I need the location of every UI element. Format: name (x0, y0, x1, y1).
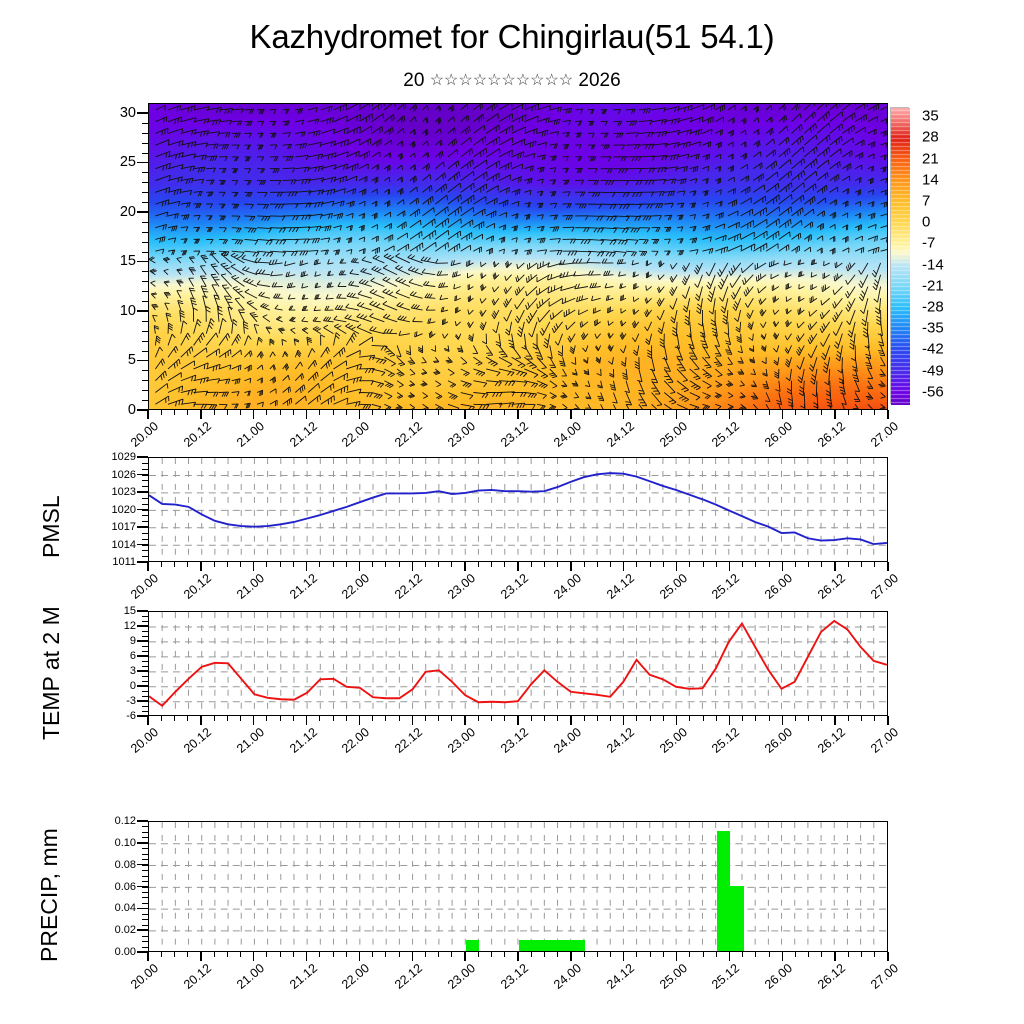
temp-y-axis: -6-303691215 (0, 611, 148, 716)
x-tick-minor (544, 716, 545, 721)
y-axis-label: 0.10 (115, 837, 136, 849)
x-axis-label: 23.12 (485, 961, 531, 1003)
y-axis-label: 0 (128, 402, 136, 418)
precip-bar (559, 940, 572, 951)
x-tick-minor (689, 410, 690, 415)
x-tick-major (359, 410, 361, 419)
y-tick-minor (142, 636, 148, 637)
x-axis-label: 23.00 (432, 571, 478, 613)
x-tick-minor (874, 410, 875, 415)
x-tick-minor (451, 952, 452, 957)
x-tick-minor (293, 716, 294, 721)
x-tick-minor (703, 716, 704, 721)
x-tick-minor (227, 952, 228, 957)
x-tick-minor (504, 716, 505, 721)
x-tick-minor (689, 952, 690, 957)
x-tick-major (676, 410, 678, 419)
x-tick-minor (385, 716, 386, 721)
y-tick-minor (142, 504, 148, 505)
x-tick-minor (755, 952, 756, 957)
x-axis-label: 24.00 (538, 725, 584, 767)
x-tick-minor (280, 952, 281, 957)
x-tick-minor (293, 562, 294, 567)
x-axis-label: 25.12 (697, 571, 743, 613)
x-tick-major (253, 952, 255, 961)
y-tick-minor (142, 892, 148, 893)
precip-y-axis: 0.000.020.040.060.080.100.12 (0, 821, 148, 952)
colorbar-tick-label: -35 (922, 320, 944, 337)
x-tick-minor (491, 562, 492, 567)
y-tick-minor (142, 903, 148, 904)
x-tick-minor (531, 562, 532, 567)
x-tick-minor (438, 410, 439, 415)
x-tick-minor (227, 562, 228, 567)
x-tick-minor (557, 716, 558, 721)
x-tick-minor (742, 716, 743, 721)
x-tick-minor (531, 410, 532, 415)
x-tick-major (464, 562, 466, 571)
x-axis-label: 27.00 (855, 961, 901, 1003)
pmsl-plot[interactable] (148, 457, 888, 562)
x-tick-major (782, 952, 784, 961)
y-axis-label: 1020 (112, 504, 136, 516)
x-axis-label: 20.12 (168, 419, 214, 461)
pmsl-polyline (149, 473, 887, 544)
x-tick-major (359, 562, 361, 571)
colorbar-tick-label: 28 (922, 129, 939, 146)
x-tick-minor (703, 952, 704, 957)
subtitle-month-glyphs: ☆☆☆☆☆☆☆☆☆☆ (430, 72, 573, 89)
colorbar-stripes (891, 108, 908, 374)
colorbar-tick-label: 0 (922, 214, 930, 231)
x-tick-major (412, 716, 414, 725)
x-tick-major (147, 952, 149, 961)
x-tick-minor (174, 562, 175, 567)
x-tick-minor (531, 716, 532, 721)
colorbar-tick-label: 14 (922, 171, 939, 188)
x-tick-minor (161, 952, 162, 957)
x-axis-label: 27.00 (855, 571, 901, 613)
y-tick-minor (142, 656, 148, 657)
x-tick-minor (372, 410, 373, 415)
y-tick-minor (142, 936, 148, 937)
x-tick-minor (491, 716, 492, 721)
y-tick-minor (142, 400, 148, 401)
temperature-colorbar[interactable] (890, 107, 909, 404)
x-tick-minor (240, 716, 241, 721)
x-tick-minor (266, 716, 267, 721)
y-tick-minor (142, 351, 148, 352)
x-tick-minor (214, 716, 215, 721)
x-tick-minor (769, 952, 770, 957)
x-tick-major (570, 952, 572, 961)
x-axis-label: 24.00 (538, 419, 584, 461)
y-tick-minor (142, 390, 148, 391)
y-axis-label: 25 (120, 154, 136, 170)
x-tick-major (306, 410, 308, 419)
x-tick-minor (544, 410, 545, 415)
x-tick-minor (425, 410, 426, 415)
x-tick-minor (478, 952, 479, 957)
x-tick-major (887, 410, 889, 419)
x-tick-minor (821, 952, 822, 957)
x-axis-label: 22.12 (380, 961, 426, 1003)
x-axis-label: 22.00 (327, 961, 373, 1003)
x-axis-label: 25.12 (697, 725, 743, 767)
x-tick-major (676, 562, 678, 571)
x-tick-major (729, 410, 731, 419)
y-tick-minor (142, 486, 148, 487)
y-tick-minor (142, 919, 148, 920)
y-tick-minor (142, 854, 148, 855)
x-tick-major (570, 562, 572, 571)
y-axis-label: 0 (130, 680, 136, 692)
x-tick-minor (319, 716, 320, 721)
x-axis-label: 26.00 (750, 961, 796, 1003)
x-tick-minor (161, 410, 162, 415)
x-tick-minor (240, 952, 241, 957)
x-tick-minor (346, 410, 347, 415)
x-tick-minor (610, 410, 611, 415)
y-tick-minor (142, 143, 148, 144)
x-tick-minor (266, 410, 267, 415)
y-axis-label: 1023 (112, 486, 136, 498)
y-axis-label: -6 (126, 710, 136, 722)
x-tick-minor (174, 716, 175, 721)
x-axis-label: 21.00 (221, 961, 267, 1003)
x-tick-major (570, 716, 572, 725)
x-tick-minor (874, 952, 875, 957)
y-tick-minor (142, 242, 148, 243)
cross-section-x-labels: 20.0020.1221.0021.1222.0022.1223.0023.12… (148, 419, 888, 459)
y-tick-minor (142, 331, 148, 332)
x-tick-major (200, 952, 202, 961)
x-tick-minor (861, 410, 862, 415)
y-tick-minor (142, 261, 148, 262)
x-tick-minor (372, 952, 373, 957)
x-tick-major (517, 410, 519, 419)
x-tick-minor (689, 716, 690, 721)
x-tick-minor (346, 562, 347, 567)
y-tick-minor (142, 232, 148, 233)
x-tick-minor (584, 952, 585, 957)
x-tick-minor (636, 716, 637, 721)
y-tick-minor (142, 908, 148, 909)
y-tick-minor (142, 821, 148, 822)
y-tick-minor (142, 626, 148, 627)
y-tick-minor (142, 182, 148, 183)
temp-plot[interactable] (148, 611, 888, 716)
x-tick-minor (821, 410, 822, 415)
y-tick-minor (142, 681, 148, 682)
y-tick-minor (142, 311, 148, 312)
x-tick-minor (491, 410, 492, 415)
colorbar-tick-label: -56 (922, 383, 944, 400)
x-tick-major (359, 952, 361, 961)
x-axis-label: 26.00 (750, 725, 796, 767)
x-tick-minor (425, 716, 426, 721)
x-axis-label: 24.00 (538, 571, 584, 613)
x-tick-major (306, 716, 308, 725)
y-tick-minor (142, 515, 148, 516)
x-axis-label: 26.12 (802, 419, 848, 461)
y-tick-minor (142, 521, 148, 522)
y-tick-minor (142, 671, 148, 672)
y-tick-minor (142, 631, 148, 632)
x-tick-minor (557, 952, 558, 957)
x-tick-major (359, 716, 361, 725)
y-tick-minor (142, 341, 148, 342)
x-axis-label: 25.12 (697, 419, 743, 461)
y-tick-minor (142, 321, 148, 322)
x-tick-minor (346, 952, 347, 957)
colorbar-tick-label: 7 (922, 192, 930, 209)
x-tick-minor (425, 562, 426, 567)
x-tick-major (253, 562, 255, 571)
x-tick-major (676, 952, 678, 961)
x-tick-minor (385, 952, 386, 957)
x-axis-label: 25.00 (644, 419, 690, 461)
y-tick-minor (142, 370, 148, 371)
x-tick-minor (478, 716, 479, 721)
x-tick-minor (874, 562, 875, 567)
x-tick-minor (438, 716, 439, 721)
x-tick-minor (795, 562, 796, 567)
x-tick-minor (227, 716, 228, 721)
x-tick-major (306, 952, 308, 961)
x-tick-minor (584, 410, 585, 415)
cross-section-x-ticks (148, 410, 888, 419)
x-tick-minor (663, 562, 664, 567)
colorbar-tick-label: -28 (922, 299, 944, 316)
x-tick-major (729, 952, 731, 961)
x-tick-minor (610, 716, 611, 721)
page-subtitle: 20 ☆☆☆☆☆☆☆☆☆☆ 2026 (0, 70, 1024, 92)
y-axis-label: 9 (130, 635, 136, 647)
y-tick-minor (142, 475, 148, 476)
y-tick-minor (142, 941, 148, 942)
precip-bar (466, 940, 479, 951)
y-tick-minor (142, 480, 148, 481)
x-tick-minor (319, 410, 320, 415)
y-tick-minor (142, 510, 148, 511)
x-tick-major (623, 952, 625, 961)
y-tick-minor (142, 914, 148, 915)
y-tick-minor (142, 881, 148, 882)
x-tick-minor (861, 952, 862, 957)
x-axis-label: 21.12 (274, 725, 320, 767)
x-tick-major (517, 562, 519, 571)
y-tick-minor (142, 930, 148, 931)
y-axis-label: 0.06 (115, 881, 136, 893)
x-tick-minor (703, 562, 704, 567)
x-axis-label: 21.00 (221, 725, 267, 767)
y-axis-label: 15 (124, 605, 136, 617)
y-tick-minor (142, 711, 148, 712)
x-tick-minor (280, 562, 281, 567)
y-tick-minor (142, 859, 148, 860)
y-tick-minor (142, 616, 148, 617)
x-tick-minor (438, 952, 439, 957)
x-tick-minor (187, 952, 188, 957)
x-tick-minor (266, 562, 267, 567)
y-tick-minor (142, 133, 148, 134)
x-tick-minor (478, 562, 479, 567)
x-tick-minor (161, 716, 162, 721)
x-axis-label: 24.12 (591, 571, 637, 613)
x-tick-minor (597, 952, 598, 957)
y-tick-minor (142, 925, 148, 926)
x-axis-label: 20.12 (168, 571, 214, 613)
wind-barb-group (149, 104, 887, 410)
x-tick-major (147, 562, 149, 571)
y-tick-minor (142, 870, 148, 871)
y-tick-minor (142, 192, 148, 193)
x-axis-label: 25.00 (644, 961, 690, 1003)
x-tick-minor (716, 716, 717, 721)
cross-section-plot[interactable] (148, 103, 888, 410)
x-tick-minor (636, 952, 637, 957)
y-tick-minor (142, 202, 148, 203)
x-tick-minor (372, 562, 373, 567)
y-axis-label: 0.02 (115, 924, 136, 936)
x-tick-minor (663, 952, 664, 957)
y-tick-minor (142, 556, 148, 557)
x-axis-label: 22.00 (327, 571, 373, 613)
y-tick-minor (142, 641, 148, 642)
x-tick-minor (385, 410, 386, 415)
x-axis-label: 20.12 (168, 725, 214, 767)
x-tick-minor (861, 716, 862, 721)
y-tick-minor (142, 701, 148, 702)
y-tick-minor (142, 947, 148, 948)
x-tick-minor (584, 716, 585, 721)
x-tick-major (729, 716, 731, 725)
colorbar-tick-label: -7 (922, 235, 935, 252)
y-tick-minor (142, 113, 148, 114)
x-tick-minor (372, 716, 373, 721)
x-tick-minor (425, 952, 426, 957)
y-tick-minor (142, 162, 148, 163)
precip-x-labels: 20.0020.1221.0021.1222.0022.1223.0023.12… (148, 961, 888, 1001)
y-tick-minor (142, 380, 148, 381)
x-tick-minor (808, 562, 809, 567)
x-tick-minor (174, 952, 175, 957)
x-tick-minor (610, 562, 611, 567)
x-tick-major (200, 562, 202, 571)
x-tick-minor (808, 410, 809, 415)
pmsl-x-labels: 20.0020.1221.0021.1222.0022.1223.0023.12… (148, 571, 888, 611)
x-tick-minor (755, 410, 756, 415)
x-tick-minor (187, 410, 188, 415)
x-tick-major (412, 562, 414, 571)
y-tick-minor (142, 498, 148, 499)
y-axis-label: 1017 (112, 521, 136, 533)
x-tick-minor (610, 952, 611, 957)
x-axis-label: 22.00 (327, 419, 373, 461)
x-axis-label: 21.12 (274, 571, 320, 613)
x-tick-minor (795, 952, 796, 957)
y-tick-minor (142, 533, 148, 534)
x-axis-label: 24.12 (591, 419, 637, 461)
y-tick-minor (142, 545, 148, 546)
x-tick-minor (848, 410, 849, 415)
x-tick-minor (438, 562, 439, 567)
colorbar-tick-label: -49 (922, 362, 944, 379)
x-axis-label: 23.12 (485, 419, 531, 461)
x-tick-major (729, 562, 731, 571)
y-tick-minor (142, 887, 148, 888)
y-axis-label: 3 (130, 665, 136, 677)
x-tick-major (412, 410, 414, 419)
y-axis-label: 0.08 (115, 859, 136, 871)
x-tick-minor (399, 562, 400, 567)
x-axis-label: 23.12 (485, 725, 531, 767)
y-tick-minor (142, 153, 148, 154)
y-axis-label: 1011 (112, 556, 136, 568)
y-tick-minor (142, 492, 148, 493)
temp-x-labels: 20.0020.1221.0021.1222.0022.1223.0023.12… (148, 725, 888, 765)
wind-barbs-layer (149, 104, 887, 410)
y-tick-minor (142, 463, 148, 464)
y-tick-minor (142, 646, 148, 647)
x-tick-major (623, 562, 625, 571)
x-axis-label: 20.00 (115, 725, 161, 767)
x-tick-minor (214, 952, 215, 957)
x-tick-minor (187, 562, 188, 567)
x-tick-minor (227, 410, 228, 415)
precip-plot[interactable] (148, 821, 888, 952)
x-tick-minor (716, 410, 717, 415)
x-axis-label: 22.00 (327, 725, 373, 767)
x-axis-label: 21.12 (274, 961, 320, 1003)
x-tick-major (834, 716, 836, 725)
x-axis-label: 22.12 (380, 419, 426, 461)
x-axis-label: 27.00 (855, 419, 901, 461)
x-axis-label: 20.12 (168, 961, 214, 1003)
x-tick-minor (636, 410, 637, 415)
y-tick-minor (142, 876, 148, 877)
x-tick-minor (742, 410, 743, 415)
x-tick-minor (187, 716, 188, 721)
temp-line (149, 612, 887, 716)
y-axis-label: 12 (124, 620, 136, 632)
x-axis-label: 24.00 (538, 961, 584, 1003)
x-tick-major (623, 410, 625, 419)
y-tick-minor (142, 865, 148, 866)
y-tick-minor (142, 848, 148, 849)
x-tick-minor (161, 562, 162, 567)
y-axis-label: 20 (120, 204, 136, 220)
y-axis-label: 0.04 (115, 902, 136, 914)
x-tick-minor (333, 562, 334, 567)
x-tick-minor (451, 562, 452, 567)
y-tick-minor (142, 222, 148, 223)
precip-bar (545, 940, 558, 951)
x-tick-major (623, 716, 625, 725)
x-tick-minor (346, 716, 347, 721)
x-axis-label: 25.00 (644, 571, 690, 613)
y-tick-minor (142, 691, 148, 692)
x-tick-minor (795, 410, 796, 415)
x-tick-major (887, 952, 889, 961)
x-tick-major (253, 716, 255, 725)
colorbar-tick-label: -21 (922, 277, 944, 294)
colorbar-tick-label: -42 (922, 341, 944, 358)
y-tick-minor (142, 686, 148, 687)
x-tick-minor (716, 562, 717, 567)
x-tick-major (464, 952, 466, 961)
